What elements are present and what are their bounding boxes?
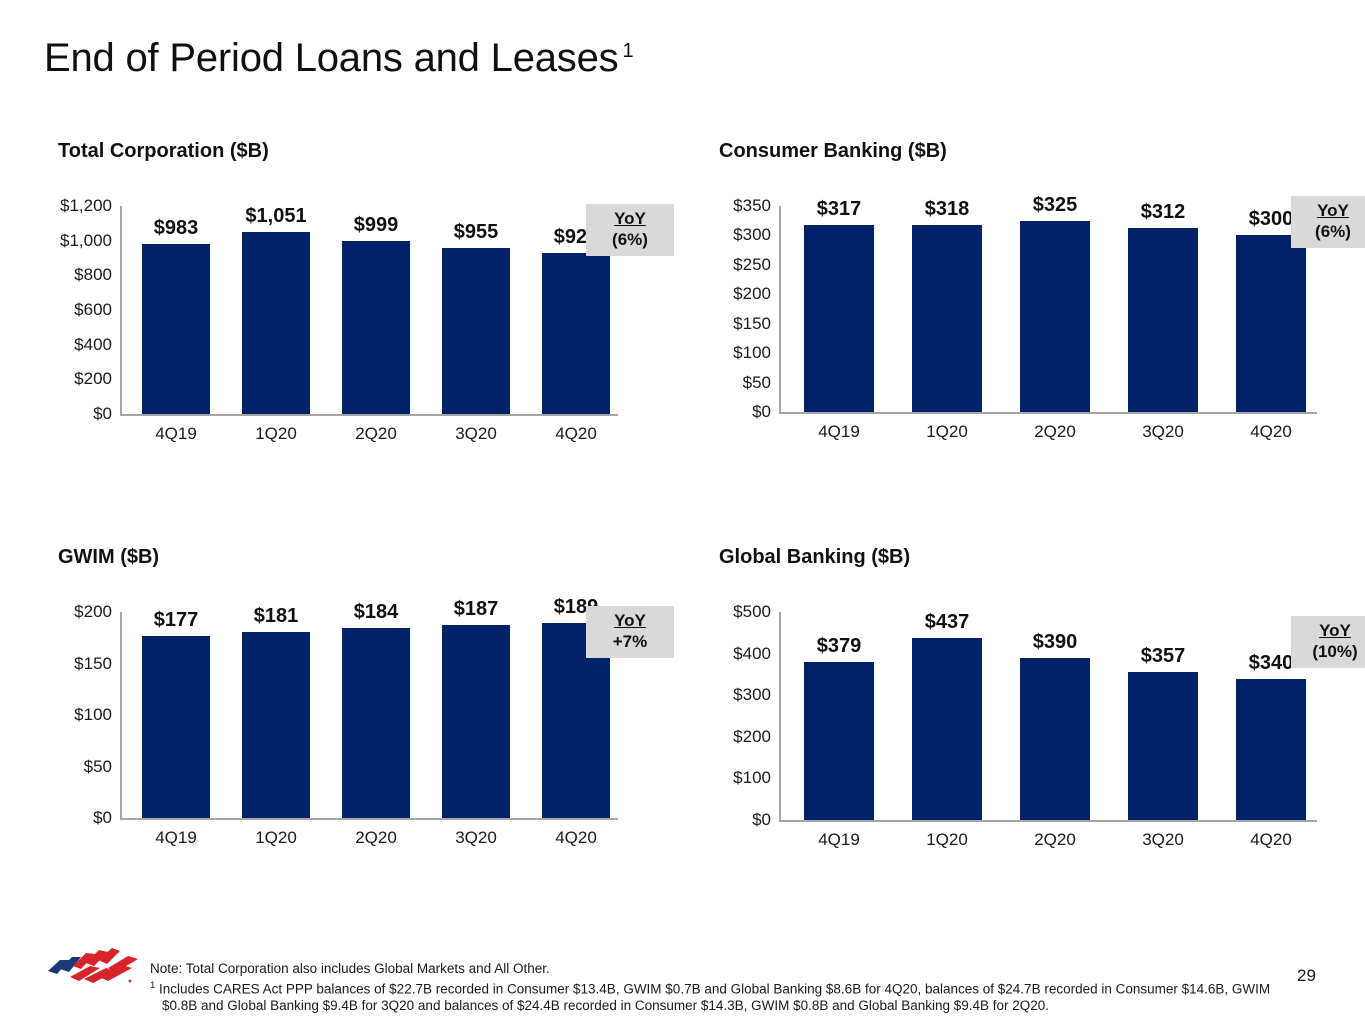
bar-value-label: $184	[318, 601, 434, 624]
bar-group: $1774Q19$1811Q20$1842Q20$1873Q20$1894Q20	[120, 612, 618, 818]
bar-value-label: $177	[118, 609, 234, 632]
page-number: 29	[1297, 966, 1316, 986]
bar-slot: $1873Q20	[442, 612, 510, 818]
yoy-callout-total-corporation: YoY (6%)	[586, 204, 674, 256]
x-axis-line	[779, 820, 1317, 822]
x-axis-tick-label: 4Q20	[514, 424, 638, 444]
x-axis-tick-label: 4Q20	[514, 828, 638, 848]
bar-value-label: $379	[780, 635, 898, 658]
x-axis-line	[120, 818, 618, 820]
bank-of-america-flag-logo	[46, 944, 150, 988]
x-axis-tick-label: 4Q20	[1208, 830, 1334, 850]
yoy-value: (6%)	[586, 229, 674, 251]
yoy-label: YoY	[1291, 620, 1365, 641]
bar	[1236, 679, 1306, 820]
yoy-label: YoY	[1291, 200, 1365, 221]
bar-value-label: $325	[996, 194, 1114, 217]
slide-footer: Note: Total Corporation also includes Gl…	[0, 930, 1365, 1024]
footnote-note-line: Note: Total Corporation also includes Gl…	[150, 961, 1300, 978]
bar-value-label: $318	[888, 198, 1006, 221]
bar	[1020, 658, 1090, 820]
bar-slot: $3181Q20	[912, 206, 982, 412]
page-title-text: End of Period Loans and Leases	[44, 36, 618, 80]
yoy-callout-consumer-banking: YoY (6%)	[1291, 196, 1365, 248]
bar	[342, 628, 410, 818]
y-axis-tick-label: $0	[752, 810, 771, 830]
bar-group: $3794Q19$4371Q20$3902Q20$3573Q20$3404Q20	[779, 612, 1317, 820]
yoy-callout-gwim: YoY +7%	[586, 606, 674, 658]
bar-slot: $9992Q20	[342, 206, 410, 414]
chart-panel-total-corporation: Total Corporation ($B) $1,200$1,000$800$…	[58, 140, 698, 450]
bar-value-label: $390	[996, 631, 1114, 654]
bar	[1128, 672, 1198, 821]
bar-chart-global-banking: $500$400$300$200$100$0$3794Q19$4371Q20$3…	[709, 596, 1349, 856]
bar-slot: $3123Q20	[1128, 206, 1198, 412]
bar-chart-consumer-banking: $350$300$250$200$150$100$50$0$3174Q19$31…	[709, 190, 1349, 450]
bar-value-label: $187	[418, 598, 534, 621]
y-axis-tick-label: $200	[733, 727, 771, 747]
bar-value-label: $181	[218, 605, 334, 628]
bar-slot: $1774Q19	[142, 612, 210, 818]
y-axis-tick-label: $500	[733, 602, 771, 622]
bar-group: $9834Q19$1,0511Q20$9992Q20$9553Q20$9284Q…	[120, 206, 618, 414]
footnote-line-2: $0.8B and Global Banking $9.4B for 3Q20 …	[150, 998, 1300, 1015]
bar-value-label: $1,051	[218, 205, 334, 228]
bar-value-label: $437	[888, 611, 1006, 634]
chart-title: Global Banking ($B)	[719, 546, 1359, 569]
yoy-value: (6%)	[1291, 221, 1365, 243]
bar	[912, 225, 982, 412]
bar-slot: $1,0511Q20	[242, 206, 310, 414]
bar-slot: $4371Q20	[912, 612, 982, 820]
bar	[804, 662, 874, 820]
bar-slot: $9834Q19	[142, 206, 210, 414]
bar	[542, 253, 610, 414]
bar-slot: $3794Q19	[804, 612, 874, 820]
bar-slot: $1811Q20	[242, 612, 310, 818]
x-axis-line	[779, 412, 1317, 414]
bar	[442, 625, 510, 818]
footnote-line-1-text: Includes CARES Act PPP balances of $22.7…	[155, 981, 1270, 996]
y-axis-tick-label: $300	[733, 225, 771, 245]
y-axis-tick-label: $400	[74, 335, 112, 355]
bar	[804, 225, 874, 412]
bar-slot: $3902Q20	[1020, 612, 1090, 820]
bar	[912, 638, 982, 820]
y-axis-tick-label: $100	[733, 768, 771, 788]
y-axis-tick-label: $50	[743, 373, 771, 393]
y-axis-tick-label: $200	[74, 369, 112, 389]
bar-value-label: $312	[1104, 201, 1222, 224]
bar-value-label: $999	[318, 214, 434, 237]
page-title: End of Period Loans and Leases1	[44, 36, 633, 81]
y-axis-tick-label: $0	[93, 808, 112, 828]
chart-title: Consumer Banking ($B)	[719, 140, 1359, 163]
y-axis-tick-label: $0	[93, 404, 112, 424]
plot-area: $500$400$300$200$100$0$3794Q19$4371Q20$3…	[709, 596, 1317, 860]
y-axis-tick-label: $300	[733, 685, 771, 705]
y-axis-tick-label: $250	[733, 255, 771, 275]
chart-panel-gwim: GWIM ($B) $200$150$100$50$0$1774Q19$1811…	[58, 546, 698, 856]
plot-area: $350$300$250$200$150$100$50$0$3174Q19$31…	[709, 190, 1317, 452]
bar-slot: $1842Q20	[342, 612, 410, 818]
bar-value-label: $955	[418, 221, 534, 244]
y-axis-tick-label: $100	[733, 343, 771, 363]
bar	[142, 636, 210, 818]
bar	[1236, 235, 1306, 412]
bar-slot: $3174Q19	[804, 206, 874, 412]
chart-title: Total Corporation ($B)	[58, 140, 698, 163]
bar-slot: $3573Q20	[1128, 612, 1198, 820]
yoy-label: YoY	[586, 208, 674, 229]
y-axis-tick-label: $1,000	[60, 231, 112, 251]
bar-slot: $3252Q20	[1020, 206, 1090, 412]
yoy-callout-global-banking: YoY (10%)	[1291, 616, 1365, 668]
x-axis-tick-label: 4Q20	[1208, 422, 1334, 442]
footnote-block: Note: Total Corporation also includes Gl…	[150, 961, 1300, 1014]
y-axis-tick-label: $200	[733, 284, 771, 304]
bar	[1020, 221, 1090, 412]
y-axis-tick-label: $150	[74, 654, 112, 674]
yoy-value: +7%	[586, 631, 674, 653]
bar-value-label: $317	[780, 198, 898, 221]
bar	[142, 244, 210, 414]
chart-title: GWIM ($B)	[58, 546, 698, 569]
bar-group: $3174Q19$3181Q20$3252Q20$3123Q20$3004Q20	[779, 206, 1317, 412]
y-axis-tick-label: $600	[74, 300, 112, 320]
bar	[342, 241, 410, 414]
bar	[242, 632, 310, 818]
y-axis-tick-label: $0	[752, 402, 771, 422]
y-axis-tick-label: $350	[733, 196, 771, 216]
bar	[442, 248, 510, 414]
bar	[1128, 228, 1198, 412]
bar-value-label: $983	[118, 217, 234, 240]
y-axis-tick-label: $400	[733, 644, 771, 664]
plot-area: $200$150$100$50$0$1774Q19$1811Q20$1842Q2…	[46, 596, 618, 858]
yoy-value: (10%)	[1291, 641, 1365, 663]
bar-value-label: $357	[1104, 645, 1222, 668]
x-axis-line	[120, 414, 618, 416]
y-axis-tick-label: $150	[733, 314, 771, 334]
yoy-label: YoY	[586, 610, 674, 631]
chart-panel-global-banking: Global Banking ($B) $500$400$300$200$100…	[719, 546, 1359, 856]
y-axis-tick-label: $800	[74, 265, 112, 285]
plot-area: $1,200$1,000$800$600$400$200$0$9834Q19$1…	[46, 190, 618, 454]
chart-panel-consumer-banking: Consumer Banking ($B) $350$300$250$200$1…	[719, 140, 1359, 450]
y-axis-tick-label: $50	[84, 757, 112, 777]
bar	[242, 232, 310, 414]
y-axis-tick-label: $1,200	[60, 196, 112, 216]
y-axis-tick-label: $100	[74, 705, 112, 725]
page-title-footnote-marker: 1	[622, 40, 633, 62]
y-axis-tick-label: $200	[74, 602, 112, 622]
footnote-line-1: 1 Includes CARES Act PPP balances of $22…	[150, 978, 1300, 998]
bar-slot: $9553Q20	[442, 206, 510, 414]
